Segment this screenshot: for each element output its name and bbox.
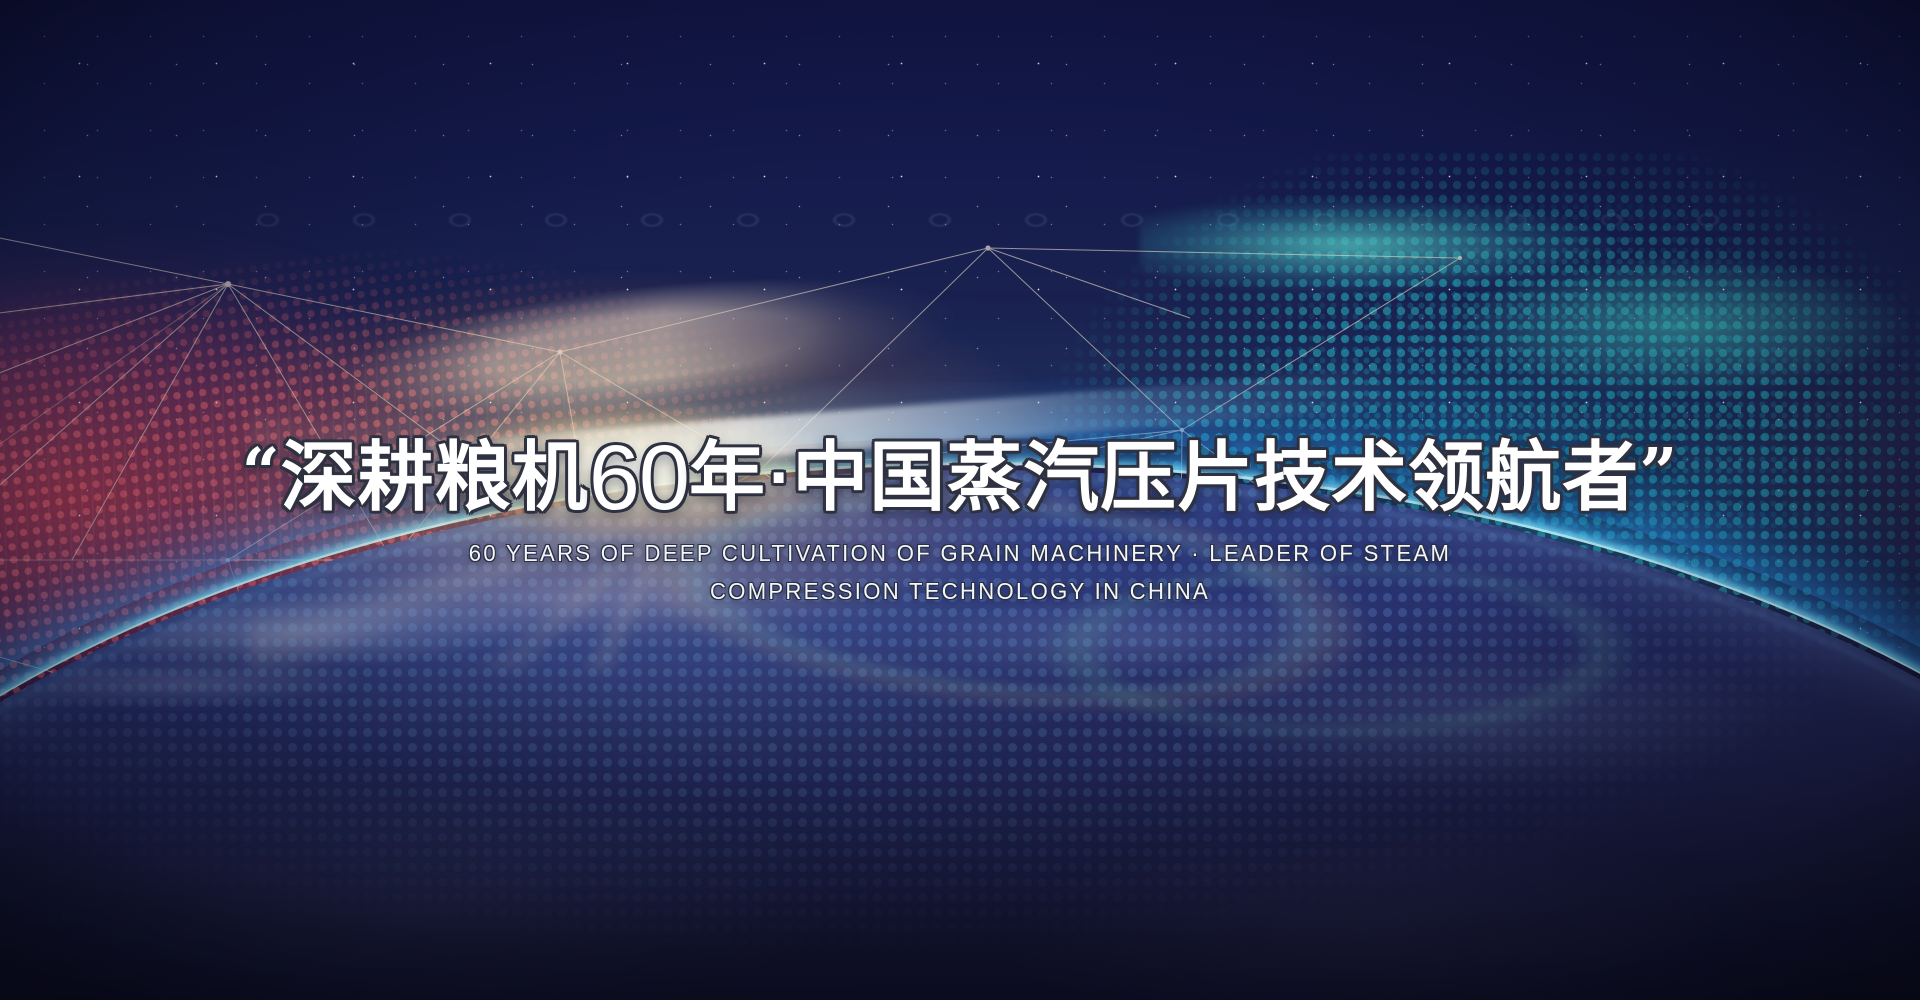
chain-ring-row-decor xyxy=(250,196,1750,244)
title-segment-tail: 中国蒸汽压片技术领航者 xyxy=(792,432,1639,521)
title-segment-before-number: 深耕粮机 xyxy=(281,432,589,521)
open-quote-mark: “ xyxy=(242,434,281,512)
hero-banner: “深耕粮机60年·中国蒸汽压片技术领航者” 60 YEARS OF DEEP C… xyxy=(0,0,1920,1000)
title-separator-dot: · xyxy=(766,446,792,511)
title-years-number: 60 xyxy=(589,427,689,529)
close-quote-mark: ” xyxy=(1639,434,1678,512)
banner-text-block: “深耕粮机60年·中国蒸汽压片技术领航者” 60 YEARS OF DEEP C… xyxy=(0,432,1920,605)
title-segment-year-char: 年 xyxy=(689,432,766,521)
banner-title-chinese: “深耕粮机60年·中国蒸汽压片技术领航者” xyxy=(0,432,1920,524)
banner-subtitle-line-2: COMPRESSION TECHNOLOGY IN CHINA xyxy=(38,578,1881,605)
banner-subtitle-line-1: 60 YEARS OF DEEP CULTIVATION OF GRAIN MA… xyxy=(38,540,1881,567)
